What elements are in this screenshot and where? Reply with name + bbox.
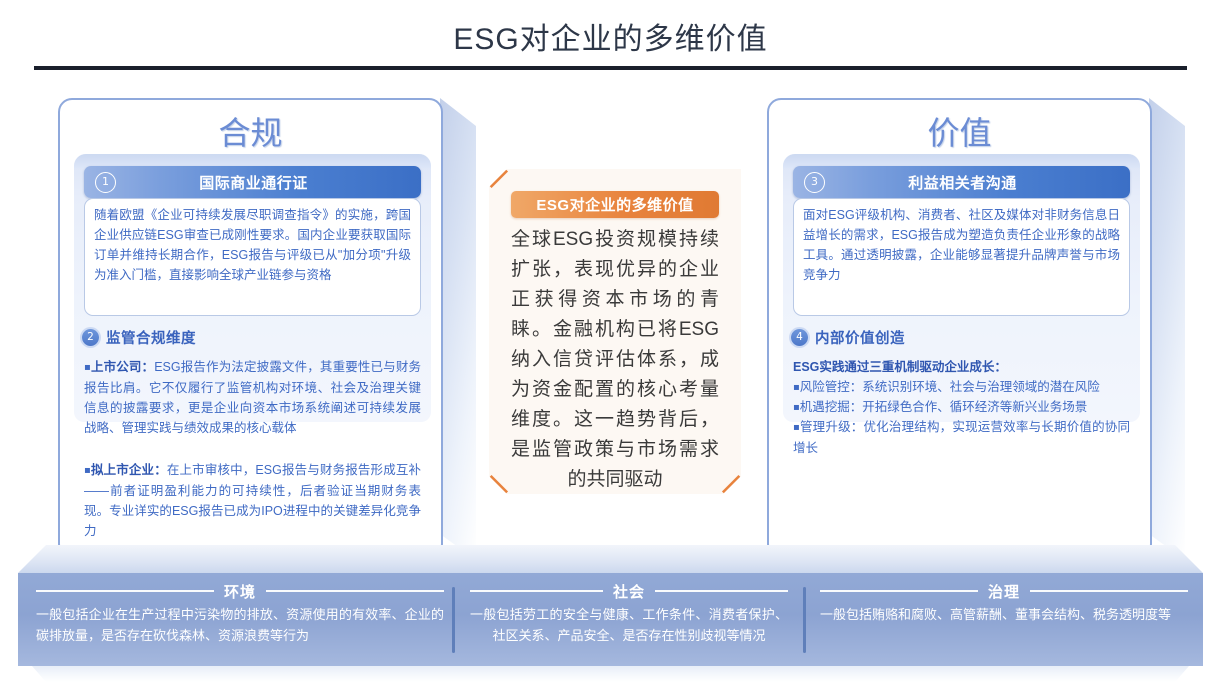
bullet-text: 机遇挖掘：开拓绿色合作、循环经济等新兴业务场景 — [800, 400, 1088, 414]
column-separator-1 — [452, 587, 455, 653]
column-description: 一般包括企业在生产过程中污染物的排放、资源使用的有效率、企业的碳排放量，是否存在… — [36, 604, 444, 646]
column-separator-2 — [803, 587, 806, 653]
column-name: 环境 — [224, 581, 256, 602]
left-block1-header[interactable]: 1 国际商业通行证 — [84, 166, 421, 198]
left-block2-item2: ▪拟上市企业：在上市审核中，ESG报告与财务报告形成互补——前者证明盈利能力的可… — [84, 460, 421, 541]
column-name: 治理 — [988, 581, 1020, 602]
block-number-badge: 3 — [804, 172, 825, 193]
center-card-header: ESG对企业的多维价值 — [511, 191, 719, 218]
right-block2-bullet-1: ▪风险管控：系统识别环境、社会与治理领域的潜在风险 — [793, 377, 1130, 398]
right-block2-heading: 4 内部价值创造 — [791, 327, 905, 348]
item1-label: 上市公司： — [91, 360, 154, 374]
heading-rule-right — [655, 590, 788, 592]
column-description: 一般包括贿赂和腐败、高管薪酬、董事会结构、税务透明度等 — [820, 604, 1188, 625]
bottom-column-social[interactable]: 社会 一般包括劳工的安全与健康、工作条件、消费者保护、社区关系、产品安全、是否存… — [470, 573, 788, 666]
heading-rule-right — [1030, 590, 1188, 592]
right-block2-bullet-3: ▪管理升级：优化治理结构，实现运营效率与长期价值的协同增长 — [793, 417, 1130, 458]
section-label: 内部价值创造 — [815, 327, 905, 348]
column-name: 社会 — [613, 581, 645, 602]
section-label: 监管合规维度 — [106, 327, 196, 348]
title-divider — [34, 66, 1187, 70]
heading-rule-left — [36, 590, 214, 592]
page-title: ESG对企业的多维价值 — [0, 14, 1221, 58]
right-block2-lead: ESG实践通过三重机制驱动企业成长： — [793, 357, 1130, 377]
bottom-column-governance[interactable]: 治理 一般包括贿赂和腐败、高管薪酬、董事会结构、税务透明度等 — [820, 573, 1188, 666]
right-block1-header[interactable]: 3 利益相关者沟通 — [793, 166, 1130, 198]
left-block2-item1: ▪上市公司：ESG报告作为法定披露文件，其重要性已与财务报告比肩。它不仅履行了监… — [84, 357, 421, 438]
center-card-body: 全球ESG投资规模持续扩张，表现优异的企业正获得资本市场的青睐。金融机构已将ES… — [511, 225, 719, 495]
column-heading: 环境 — [36, 581, 444, 601]
bullet-text: 管理升级：优化治理结构，实现运营效率与长期价值的协同增长 — [793, 420, 1130, 455]
right-card-3d-shadow — [1149, 98, 1185, 560]
lead-text: ESG实践通过三重机制驱动企业成长： — [793, 360, 1007, 374]
bottom-bar[interactable]: 环境 一般包括企业在生产过程中污染物的排放、资源使用的有效率、企业的碳排放量，是… — [18, 573, 1203, 666]
left-block2-heading: 2 监管合规维度 — [82, 327, 196, 348]
right-block2-bullet-2: ▪机遇挖掘：开拓绿色合作、循环经济等新兴业务场景 — [793, 397, 1130, 418]
left-block1-body: 随着欧盟《企业可持续发展尽职调查指令》的实施，跨国企业供应链ESG审查已成刚性要… — [94, 205, 411, 285]
column-heading: 治理 — [820, 581, 1188, 601]
bullet-square-icon: ▪ — [793, 382, 800, 393]
right-block1-body: 面对ESG评级机构、消费者、社区及媒体对非财务信息日益增长的需求，ESG报告成为… — [803, 205, 1120, 285]
heading-rule-left — [820, 590, 978, 592]
bullet-text: 风险管控：系统识别环境、社会与治理领域的潜在风险 — [800, 380, 1100, 394]
bullet-square-icon: ▪ — [84, 362, 91, 373]
left-card-title: 合规 — [60, 108, 441, 154]
left-card-3d-shadow — [440, 98, 476, 560]
block-number-badge: 1 — [95, 172, 116, 193]
heading-rule-right — [266, 590, 444, 592]
column-description: 一般包括劳工的安全与健康、工作条件、消费者保护、社区关系、产品安全、是否存在性别… — [470, 604, 788, 646]
bottom-column-environment[interactable]: 环境 一般包括企业在生产过程中污染物的排放、资源使用的有效率、企业的碳排放量，是… — [36, 573, 444, 666]
bullet-square-icon: ▪ — [793, 402, 800, 413]
bullet-square-icon: ▪ — [793, 422, 800, 433]
item2-label: 拟上市企业： — [91, 463, 167, 477]
section-number-badge: 4 — [791, 329, 808, 346]
section-number-badge: 2 — [82, 329, 99, 346]
block-header-title: 国际商业通行证 — [116, 172, 391, 193]
column-heading: 社会 — [470, 581, 788, 601]
right-card-value[interactable]: 价值 3 利益相关者沟通 面对ESG评级机构、消费者、社区及媒体对非财务信息日益… — [767, 98, 1152, 558]
heading-rule-left — [470, 590, 603, 592]
bottom-bar-top-bevel — [18, 545, 1203, 573]
bottom-bar-base-bevel — [32, 666, 1189, 682]
left-card-compliance[interactable]: 合规 1 国际商业通行证 随着欧盟《企业可持续发展尽职调查指令》的实施，跨国企业… — [58, 98, 443, 558]
block-header-title: 利益相关者沟通 — [825, 172, 1100, 193]
infographic-canvas: ESG对企业的多维价值 合规 1 国际商业通行证 随着欧盟《企业可持续发展尽职调… — [0, 0, 1221, 684]
right-card-title: 价值 — [769, 108, 1150, 154]
bullet-square-icon: ▪ — [84, 465, 91, 476]
center-card-frame[interactable]: ESG对企业的多维价值 全球ESG投资规模持续扩张，表现优异的企业正获得资本市场… — [489, 169, 741, 494]
